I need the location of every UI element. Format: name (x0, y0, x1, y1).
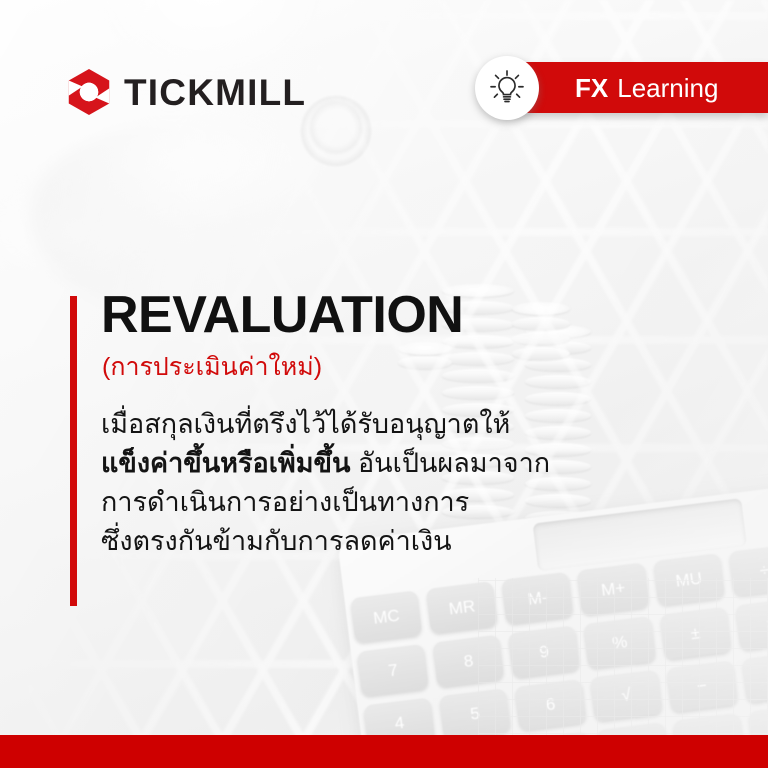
fx-learning-label: FXLearning (575, 75, 718, 101)
page-title: REVALUATION (101, 288, 661, 343)
body-text-line: ซึ่งตรงกันข้ามกับการลดค่าเงิน (101, 522, 661, 561)
body-text-segment: เมื่อสกุลเงินที่ตรึงไว้ได้รับอนุญาตให้ (101, 409, 510, 439)
body-text-emphasis: แข็งค่าขึ้นหรือเพิ่มขึ้น (101, 448, 350, 478)
body-text-line: การดำเนินการอย่างเป็นทางการ (101, 483, 661, 522)
content-block: REVALUATION (การประเมินค่าใหม่) เมื่อสกุ… (101, 288, 661, 561)
body-text-line: แข็งค่าขึ้นหรือเพิ่มขึ้น อันเป็นผลมาจาก (101, 444, 661, 483)
body-text: เมื่อสกุลเงินที่ตรึงไว้ได้รับอนุญาตให้แข… (101, 405, 661, 561)
fx-learning-banner[interactable]: FXLearning (500, 62, 768, 113)
tickmill-wordmark: TICKMILL (124, 74, 306, 111)
fx-label-light: Learning (617, 73, 718, 103)
red-accent-bar (70, 296, 77, 606)
tickmill-logo[interactable]: TICKMILL (66, 68, 306, 116)
footer-red-bar (0, 735, 768, 768)
poster-canvas: MC MR M- M+ MU ÷ 7 8 9 % ± × 4 5 6 √ − 1… (0, 0, 768, 768)
lightbulb-icon (487, 68, 527, 108)
body-text-segment: การดำเนินการอย่างเป็นทางการ (101, 487, 469, 517)
body-text-segment: อันเป็นผลมาจาก (350, 448, 550, 478)
body-text-segment: ซึ่งตรงกันข้ามกับการลดค่าเงิน (101, 526, 452, 556)
page-subtitle: (การประเมินค่าใหม่) (102, 354, 661, 382)
tickmill-hexagon-icon (66, 68, 112, 116)
body-text-line: เมื่อสกุลเงินที่ตรึงไว้ได้รับอนุญาตให้ (101, 405, 661, 444)
lightbulb-badge[interactable] (475, 56, 539, 120)
fx-label-bold: FX (575, 73, 608, 103)
